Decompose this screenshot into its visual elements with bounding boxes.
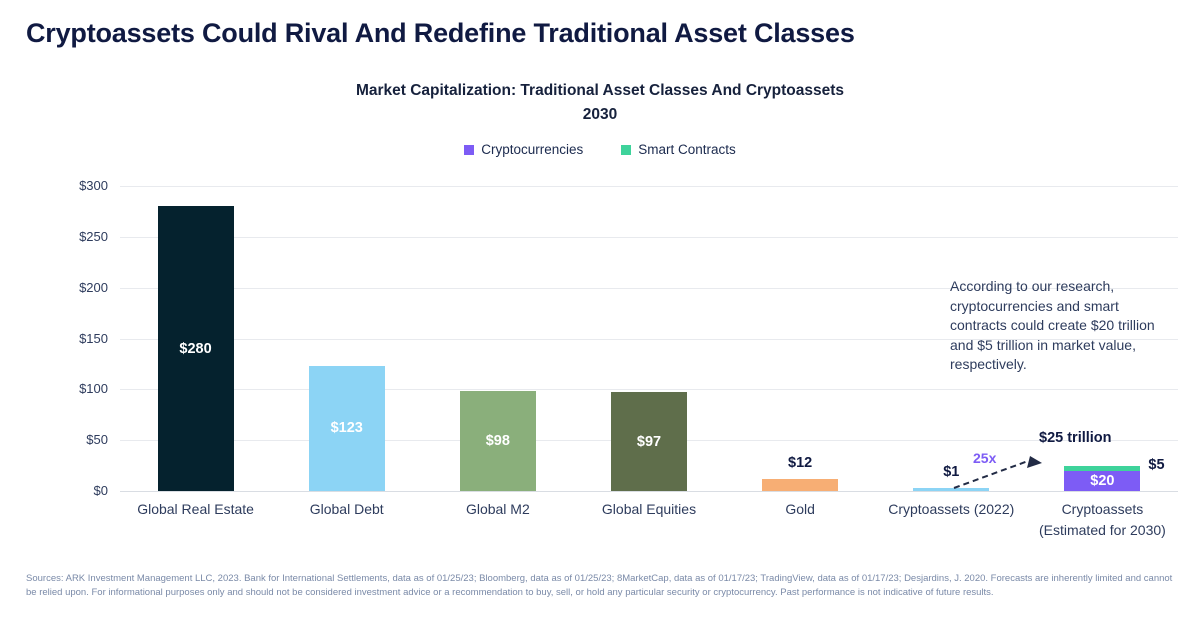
x-axis-tick-label-line1: Cryptoassets (2022) [876,499,1027,520]
bar-group: $12 [725,186,876,491]
x-axis-tick-label-line1: Global M2 [422,499,573,520]
bar-group: $98 [422,186,573,491]
bar-value-label: $123 [309,420,385,436]
x-axis-tick-label-line1: Cryptoassets [1027,499,1178,520]
bar-value-label: $12 [788,455,812,471]
bar-cryptoassets[interactable]: $20$5 [1064,466,1140,491]
x-axis-tick-label-line1: Global Equities [573,499,724,520]
y-axis-tick-label: $300 [28,178,108,193]
bar-gold[interactable]: $12 [762,479,838,491]
bar-value-label: $98 [460,433,536,449]
bar-fill: $98 [460,391,536,491]
x-axis-tick-label: Global Equities [573,499,724,520]
x-axis-ticks: Global Real EstateGlobal DebtGlobal M2Gl… [120,499,1178,559]
bar-value-label: $280 [158,341,234,357]
bar-global-equities[interactable]: $97 [611,392,687,491]
growth-arrow-icon [952,452,1044,492]
y-axis-tick-label: $250 [28,229,108,244]
research-note-annotation: According to our research, cryptocurrenc… [950,277,1165,375]
x-axis-tick-label: Cryptoassets (2022) [876,499,1027,520]
y-axis-tick-label: $100 [28,381,108,396]
bar-global-m2[interactable]: $98 [460,391,536,491]
bar-fill: $123 [309,366,385,491]
bar-fill: $97 [611,392,687,491]
bar-global-real-estate[interactable]: $280 [158,206,234,491]
x-axis-tick-label-line1: Global Debt [271,499,422,520]
x-axis-tick-label-line1: Global Real Estate [120,499,271,520]
bar-group: $97 [573,186,724,491]
bar-segment-value-label: $20 [1064,473,1140,489]
bar-group: $123 [271,186,422,491]
bar-value-label: $97 [611,434,687,450]
x-axis-tick-label: Cryptoassets(Estimated for 2030) [1027,499,1178,541]
bar-group: $280 [120,186,271,491]
bar-segment-cryptocurrencies[interactable]: $20 [1064,471,1140,491]
stacked-total-label: $25 trillion [1039,430,1112,446]
y-axis-tick-label: $50 [28,432,108,447]
x-axis-tick-label: Global Debt [271,499,422,520]
bar-segment-side-label: $5 [1148,457,1164,473]
y-axis-tick-label: $200 [28,280,108,295]
x-axis-tick-label: Gold [725,499,876,520]
x-axis-tick-label: Global M2 [422,499,573,520]
bar-fill [762,479,838,491]
y-axis-tick-label: $150 [28,331,108,346]
x-axis-tick-label: Global Real Estate [120,499,271,520]
source-footnote: Sources: ARK Investment Management LLC, … [26,572,1176,599]
x-axis-tick-label-line1: Gold [725,499,876,520]
x-axis-tick-label-line2: (Estimated for 2030) [1027,520,1178,541]
bar-global-debt[interactable]: $123 [309,366,385,491]
y-axis-tick-label: $0 [28,483,108,498]
bar-fill: $280 [158,206,234,491]
